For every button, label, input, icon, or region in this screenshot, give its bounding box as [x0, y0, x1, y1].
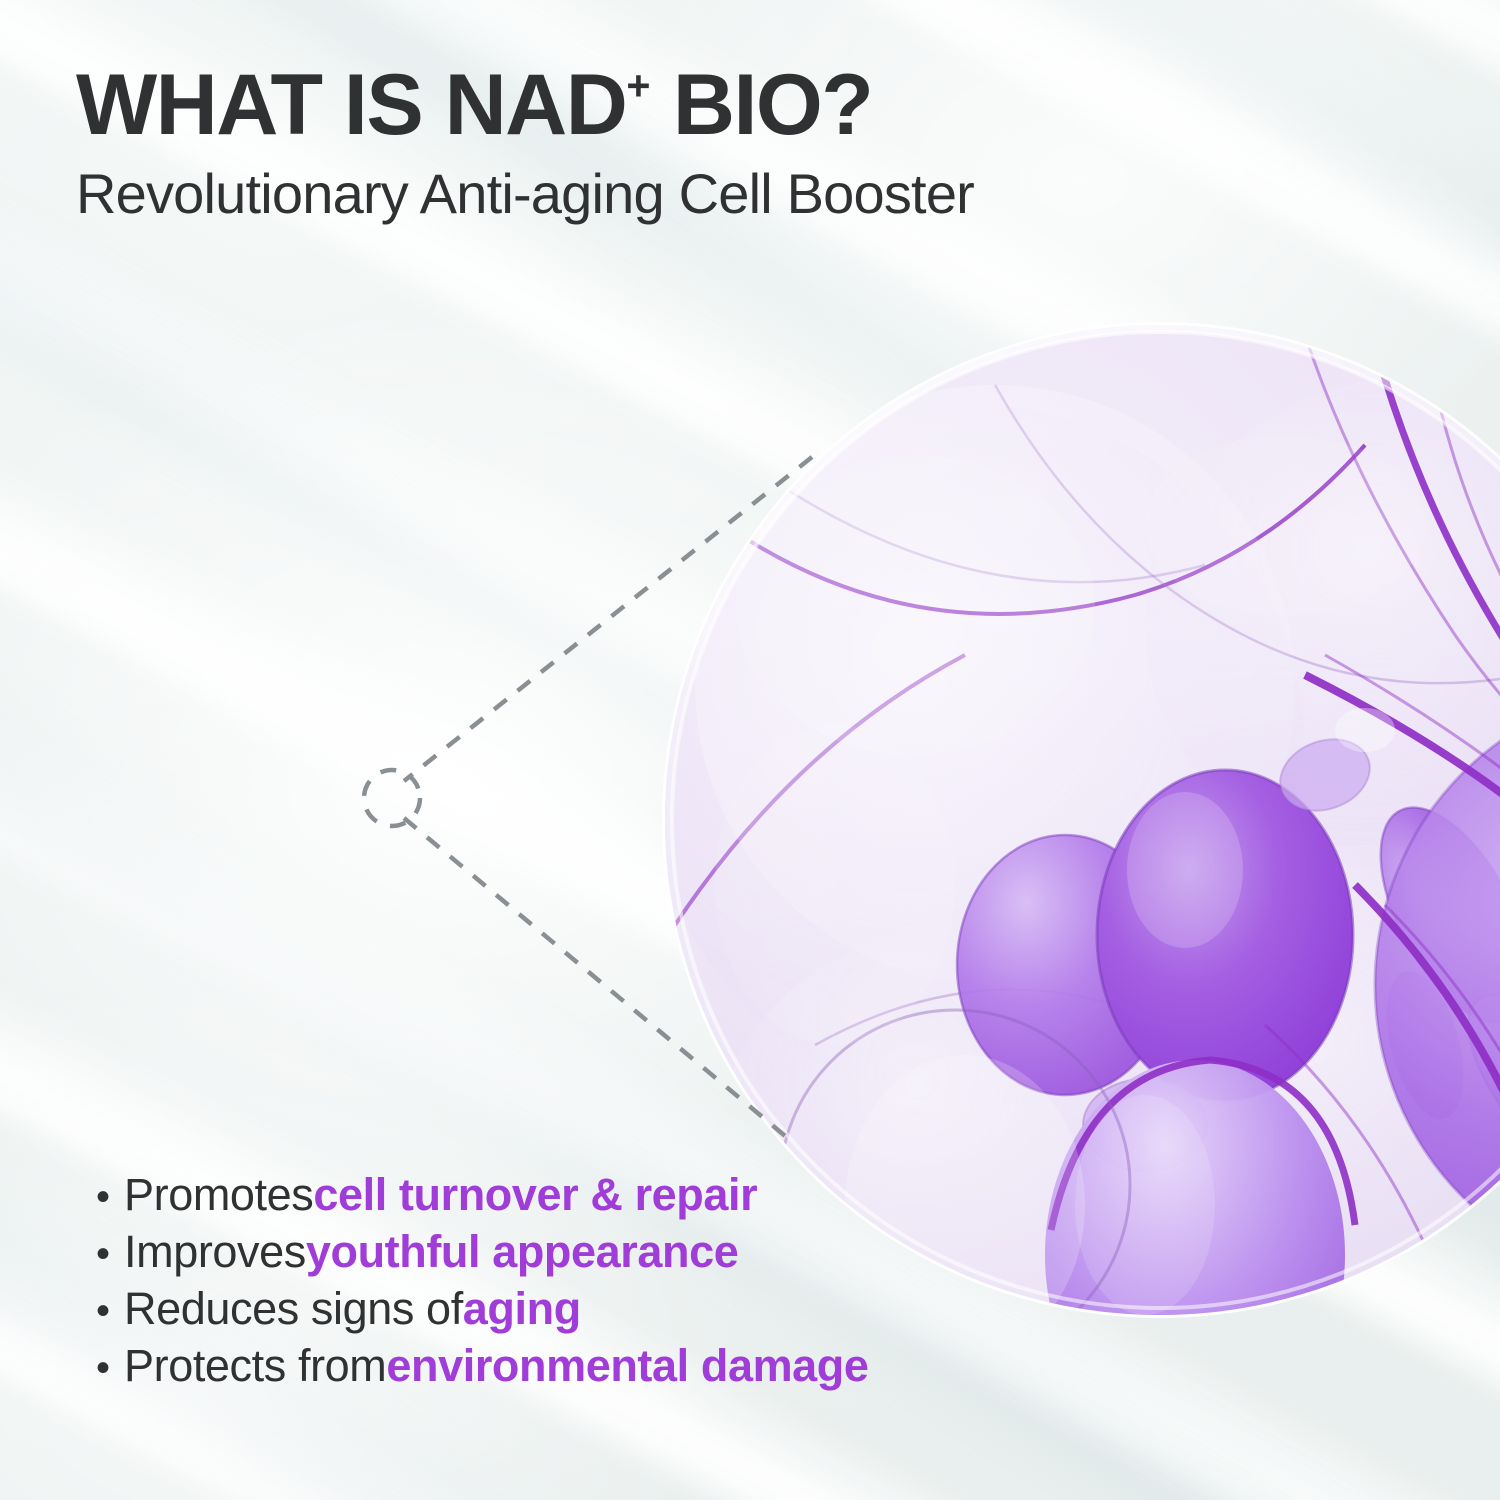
- bullet-dot-icon: •: [96, 1169, 124, 1226]
- list-item: • Promotes cell turnover & repair: [96, 1166, 869, 1223]
- page-title: WHAT IS NAD+ BIO?: [76, 62, 974, 148]
- list-item: • Reduces signs of aging: [96, 1280, 869, 1337]
- bullet-text-accent: cell turnover & repair: [313, 1166, 757, 1223]
- bullet-text-accent: youthful appearance: [306, 1223, 739, 1280]
- page-subtitle: Revolutionary Anti-aging Cell Booster: [76, 166, 974, 222]
- page-title-tail: BIO?: [651, 57, 873, 153]
- page-title-main: WHAT IS NAD: [76, 57, 626, 153]
- bullet-text-plain: Promotes: [124, 1166, 313, 1223]
- bullet-dot-icon: •: [96, 1283, 124, 1340]
- page-title-superscript-plus: +: [626, 63, 650, 109]
- list-item: • Improves youthful appearance: [96, 1223, 869, 1280]
- bullet-dot-icon: •: [96, 1226, 124, 1283]
- headings-block: WHAT IS NAD+ BIO? Revolutionary Anti-agi…: [76, 62, 974, 222]
- bullet-text-accent: aging: [463, 1280, 581, 1337]
- bullet-dot-icon: •: [96, 1340, 124, 1397]
- bullet-text-accent: environmental damage: [386, 1337, 868, 1394]
- bullet-text-plain: Improves: [124, 1223, 306, 1280]
- bullet-text-plain: Reduces signs of: [124, 1280, 463, 1337]
- benefits-list: • Promotes cell turnover & repair • Impr…: [96, 1166, 869, 1394]
- bullet-text-plain: Protects from: [124, 1337, 386, 1394]
- nad-bio-infographic: WHAT IS NAD+ BIO? Revolutionary Anti-agi…: [0, 0, 1500, 1500]
- list-item: • Protects from environmental damage: [96, 1337, 869, 1394]
